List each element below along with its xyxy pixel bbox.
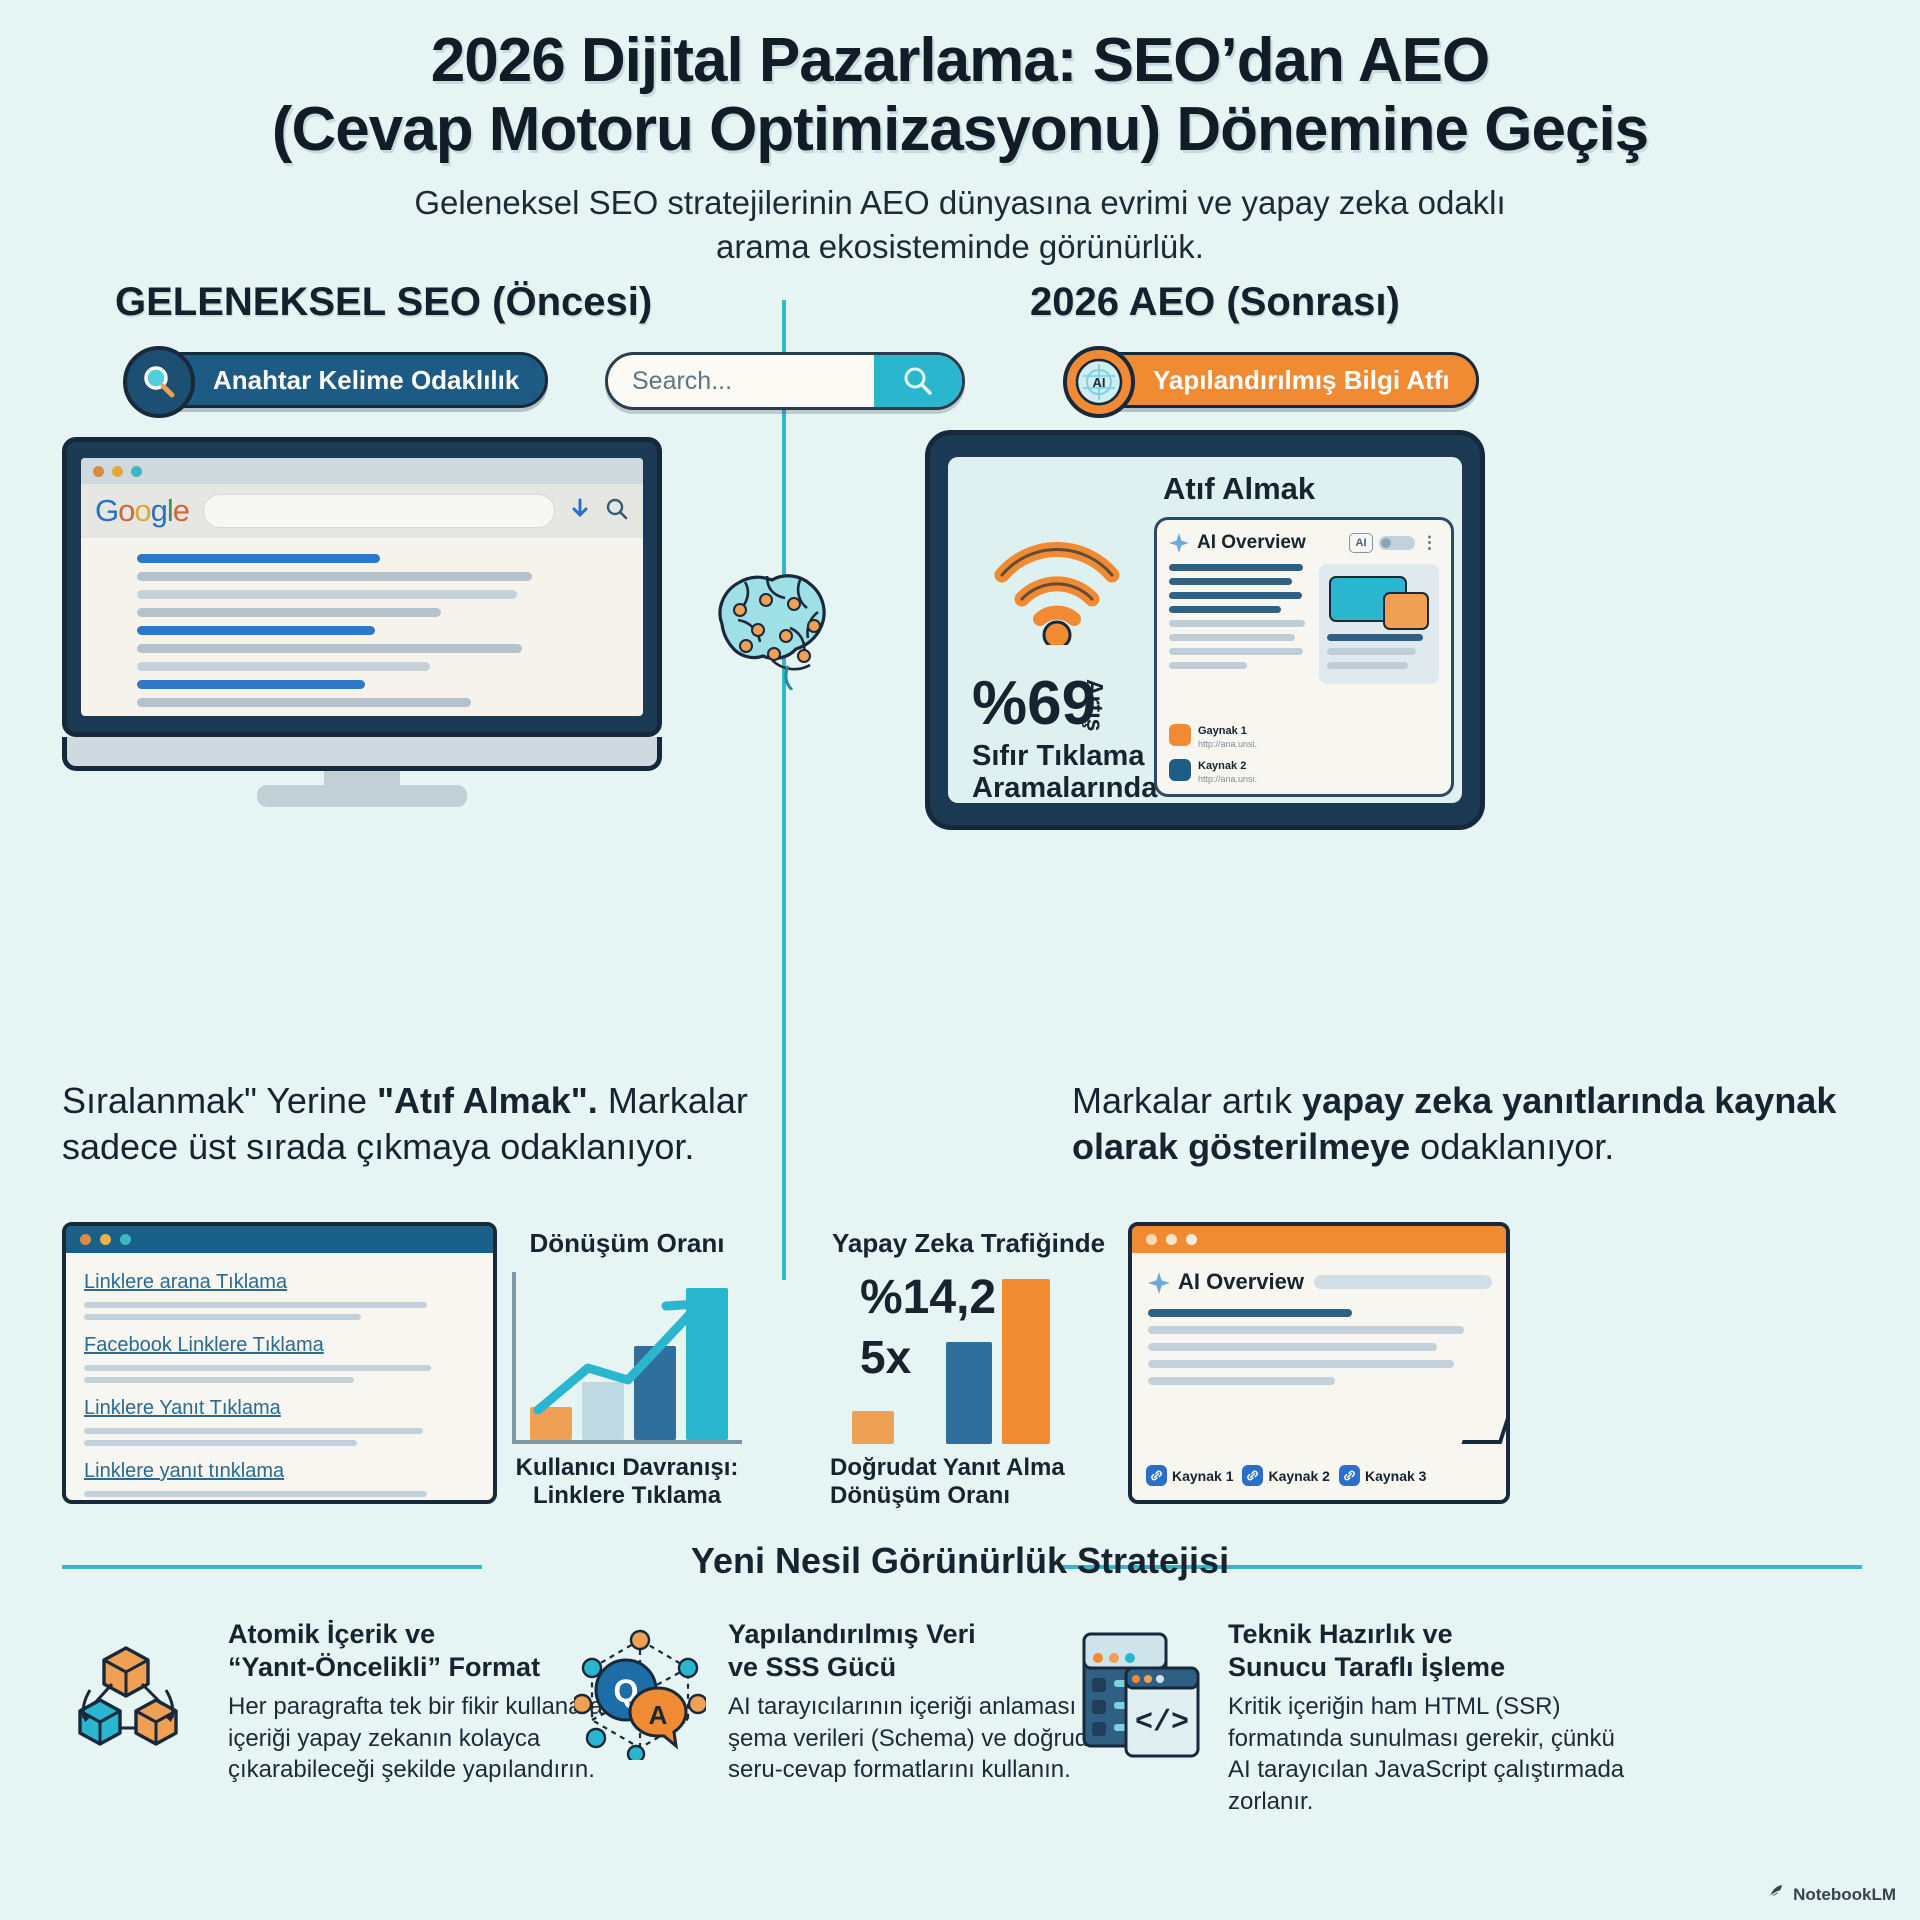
ai-overview-title: AI Overview [1178,1269,1304,1295]
chart-plot-area [512,1272,742,1444]
tablet-frame: Atıf Almak %69 Artış Sıfır Tıklama [925,430,1485,830]
strategy-section-title: Yeni Nesil Görünürlük Stratejisi [0,1540,1920,1582]
window-dot-green [1186,1234,1197,1245]
sparkle-icon [1148,1272,1168,1292]
browser-titlebar [81,458,643,484]
cubes-network-icon [70,1618,210,1786]
search-icon[interactable] [874,355,962,407]
kebab-menu-icon[interactable]: ⋮ [1421,533,1439,553]
chart-caption: Kullanıcı Davranışı: Linklere Tıklama [498,1454,756,1510]
source-orange-icon [1169,724,1191,746]
qa-network-icon: Q A [570,1618,710,1786]
notebooklm-icon [1768,1883,1786,1906]
magnifier-icon [123,346,195,418]
window-dot-yellow [112,466,123,477]
source-chip-label: Kaynak 2 [1268,1468,1329,1484]
chart-conversion-rate: Dönüşüm Oranı Kullanıcı Davranışı: Linkl… [498,1228,756,1508]
badge-structured-citation[interactable]: AI Yapılandırılmış Bilgi Atfı [1090,352,1479,408]
desktop-monitor: Google [62,437,662,737]
title-line-2: (Cevap Motoru Optimizasyonu) Dönemine Ge… [0,95,1920,164]
ai-overview-title: AI Overview [1197,532,1306,554]
strategy-item-atomic-content: Atomik İçerik ve “Yanıt-Öncelikli” Forma… [70,1618,630,1786]
list-item[interactable]: Linklere yanıt tınklama [84,1460,469,1483]
tablet-device: Atıf Almak %69 Artış Sıfır Tıklama [925,430,1485,830]
stat-rotated-label: Artış [1081,679,1108,731]
bar-1 [946,1342,992,1444]
list-item[interactable]: Linklere Yanıt Tıklama [84,1397,469,1420]
search-icon[interactable] [605,497,629,526]
search-input[interactable]: Search... [608,367,874,396]
caption-left-part-1: Sıralanmak" Yerine [62,1080,377,1121]
strategy-body: Kritik içeriğin ham HTML (SSR) formatınd… [1228,1691,1630,1818]
list-item[interactable]: Facebook Linklere Tıklama [84,1334,469,1357]
svg-text:</>: </> [1135,1706,1189,1740]
stat-value: %69 [972,675,1096,734]
chart-plot-area [846,1272,1104,1444]
ai-overview-sources: Gaynak 1 http://ana.unsi. Kaynak 2 http:… [1169,714,1329,784]
page-title: 2026 Dijital Pazarlama: SEO’dan AEO (Cev… [0,0,1920,165]
ai-overview-header: AI Overview [1132,1253,1506,1295]
monitor-frame: Google [62,437,662,737]
caption-left-part-2: "Atıf Almak". [377,1080,598,1121]
trend-arrow-icon [516,1272,746,1444]
caption-left: Sıralanmak" Yerine "Atıf Almak". Markala… [62,1078,762,1170]
source-chip[interactable]: Kaynak 3 [1339,1465,1426,1486]
source-row[interactable]: Gaynak 1 http://ana.unsi. [1169,721,1329,749]
google-logo: Google [95,493,189,529]
infographic-canvas: 2026 Dijital Pazarlama: SEO’dan AEO (Cev… [0,0,1920,1920]
download-arrow-icon[interactable] [569,497,591,526]
chart-ai-traffic: Yapay Zeka Trafiğinde %14,2 5x Doğrudat … [822,1228,1112,1508]
link-icon [1339,1465,1360,1486]
link-icon [1242,1465,1263,1486]
center-search-bar[interactable]: Search... [605,352,965,410]
ai-overview-side-panel [1319,564,1439,684]
browser-titlebar [66,1226,493,1253]
column-heading-left: GELENEKSEL SEO (Öncesi) [115,280,652,325]
ai-overview-browser-window: AI Overview Kaynak 1 Kaynak 2 [1128,1222,1510,1504]
browser-titlebar [1132,1226,1506,1253]
window-dot-red [80,1234,91,1245]
ai-brain-icon: AI [1063,346,1135,418]
source-chip-list: Kaynak 1 Kaynak 2 Kaynak 3 [1146,1465,1426,1486]
strategy-item-technical-readiness: </> Teknik Hazırlık ve Sunucu Taraflı İş… [1070,1618,1630,1818]
google-search-input[interactable] [203,494,555,528]
ai-overview-text-lines [1169,564,1309,684]
page-subtitle: Geleneksel SEO stratejilerinin AEO dünya… [0,181,1920,270]
result-snippet [137,662,430,671]
result-title [137,680,365,689]
brain-network-icon [700,560,875,690]
strategy-item-structured-data: Q A Yapılandırılmış Veri ve SSS Gücü [570,1618,1130,1786]
ai-overview-text-lines [1132,1295,1506,1385]
search-results-list [81,538,643,707]
caption-right: Markalar artık yapay zeka yanıtlarında k… [1072,1078,1902,1170]
speech-tail [1461,1410,1510,1444]
column-heading-right: 2026 AEO (Sonrası) [1030,280,1400,325]
bar-2 [1002,1279,1050,1444]
window-dot-red [1146,1234,1157,1245]
tablet-screen: Atıf Almak %69 Artış Sıfır Tıklama [948,457,1462,803]
source-name: Gaynak 1 [1198,725,1247,737]
source-chip-label: Kaynak 3 [1365,1468,1426,1484]
ai-overview-header: AI Overview AI ⋮ [1169,532,1439,554]
source-row[interactable]: Kaynak 2 http://ana.unsi. [1169,756,1329,784]
svg-text:AI: AI [1093,375,1106,390]
sparkle-icon [1169,533,1189,553]
subtitle-line-1: Geleneksel SEO stratejilerinin AEO dünya… [0,181,1920,226]
source-blue-icon [1169,759,1191,781]
window-dot-yellow [1166,1234,1177,1245]
caption-right-part-3: odaklanıyor. [1410,1126,1614,1167]
badge-keyword-focus[interactable]: Anahtar Kelime Odaklılık [150,352,548,408]
link-list: Linklere arana Tıklama Facebook Linklere… [66,1253,493,1504]
badge-right-label: Yapılandırılmış Bilgi Atfı [1153,365,1450,396]
footer-brand-label: NotebookLM [1793,1885,1896,1905]
chart-caption: Doğrudat Yanıt Alma Dönüşüm Oranı [822,1454,1112,1510]
chat-bubbles-icon [1327,572,1431,634]
code-window-icon: </> [1070,1618,1210,1818]
source-url: http://ana.unsi. [1198,739,1257,749]
link-icon [1146,1465,1167,1486]
source-chip-label: Kaynak 1 [1172,1468,1233,1484]
result-snippet [137,644,522,653]
chart-title: Dönüşüm Oranı [498,1228,756,1259]
footer-brand: NotebookLM [1768,1883,1896,1906]
window-dot-red [93,466,104,477]
tablet-title: Atıf Almak [1163,471,1315,507]
header-placeholder-bar [1314,1275,1492,1289]
title-line-1: 2026 Dijital Pazarlama: SEO’dan AEO [0,26,1920,95]
chart-title: Yapay Zeka Trafiğinde [822,1228,1112,1259]
google-search-row: Google [81,484,643,538]
toggle-icon[interactable] [1379,536,1415,550]
window-dot-green [131,466,142,477]
wifi-icon [992,535,1122,650]
window-dot-green [120,1234,131,1245]
ai-chip-icon: AI [1349,533,1373,553]
subtitle-line-2: arama ekosisteminde görünürlük. [0,225,1920,270]
result-snippet [137,590,517,599]
result-title [137,626,375,635]
badge-left-label: Anahtar Kelime Odaklılık [213,365,519,396]
links-browser-window: Linklere arana Tıklama Facebook Linklere… [62,1222,497,1504]
window-dot-yellow [100,1234,111,1245]
svg-text:A: A [649,1700,668,1730]
source-url: http://ana.unsi. [1198,774,1257,784]
stat-sublabel: Sıfır Tıklama Aramalarında [972,741,1157,803]
result-title [137,554,380,563]
source-name: Kaynak 2 [1198,760,1246,772]
source-chip[interactable]: Kaynak 1 [1146,1465,1233,1486]
monitor-stand-base [257,785,467,807]
strategy-heading: Teknik Hazırlık ve Sunucu Taraflı İşleme [1228,1618,1630,1684]
ai-overview-card: AI Overview AI ⋮ [1154,517,1454,797]
result-snippet [137,698,471,707]
monitor-screen: Google [81,458,643,716]
monitor-chin [62,737,662,771]
list-item[interactable]: Linklere arana Tıklama [84,1271,469,1294]
result-snippet [137,572,532,581]
bar-0 [852,1411,894,1444]
caption-right-part-1: Markalar artık [1072,1080,1302,1121]
result-snippet [137,608,441,617]
center-divider [782,300,786,1280]
source-chip[interactable]: Kaynak 2 [1242,1465,1329,1486]
